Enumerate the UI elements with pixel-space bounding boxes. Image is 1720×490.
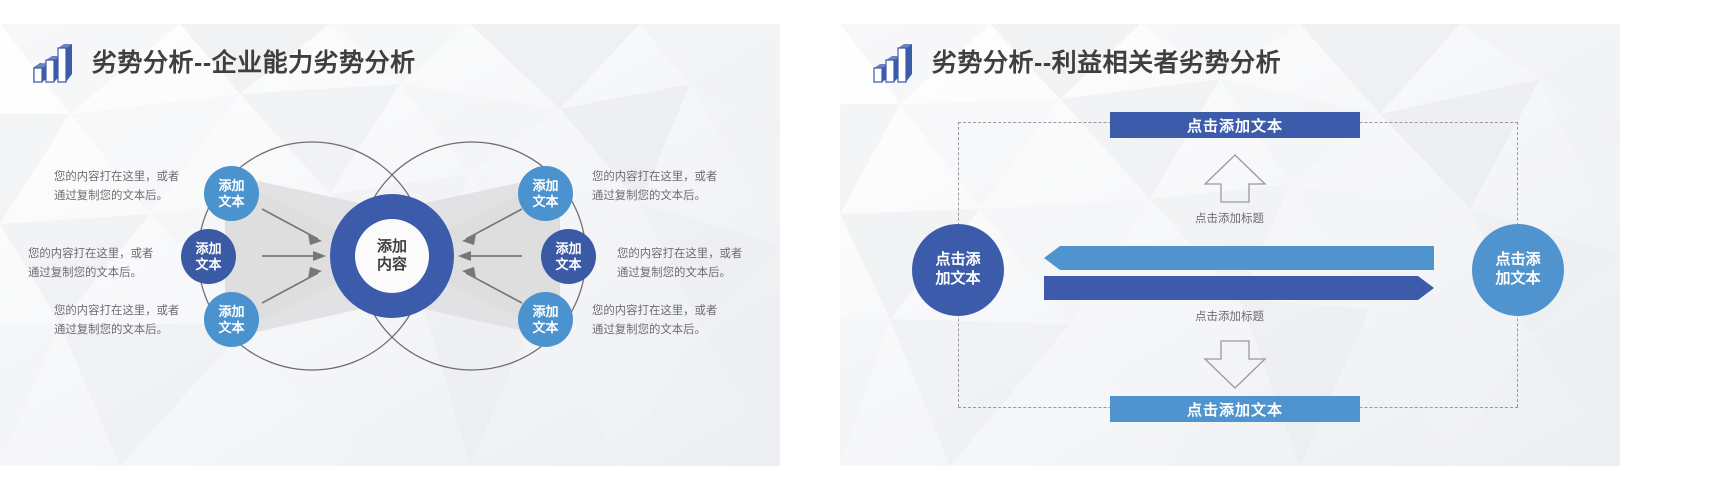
left-chip-3-line1: 添加 xyxy=(218,304,244,320)
left-note-3-line2: 通过复制您的文本后。 xyxy=(54,321,179,340)
down-arrow-outline-icon xyxy=(1203,339,1267,391)
left-chip-3-line2: 文本 xyxy=(218,320,244,336)
top-banner[interactable]: 点击添加文本 xyxy=(1110,112,1360,138)
left-chip-3[interactable]: 添加 文本 xyxy=(204,292,259,347)
left-note-2-line2: 通过复制您的文本后。 xyxy=(28,264,153,283)
top-banner-label: 点击添加文本 xyxy=(1187,115,1283,136)
left-note-3: 您的内容打在这里，或者 通过复制您的文本后。 xyxy=(54,302,179,340)
right-note-1-line1: 您的内容打在这里，或者 xyxy=(592,168,717,187)
right-note-2-line1: 您的内容打在这里，或者 xyxy=(617,245,742,264)
left-chip-1[interactable]: 添加 文本 xyxy=(204,166,259,221)
bar-chart-3d-icon xyxy=(868,38,914,84)
left-chip-1-line2: 文本 xyxy=(218,194,244,210)
left-note-2-line1: 您的内容打在这里，或者 xyxy=(28,245,153,264)
slide-deck: 劣势分析--企业能力劣势分析 xyxy=(0,0,1720,490)
up-arrow-outline-icon xyxy=(1203,152,1267,204)
upper-caption: 点击添加标题 xyxy=(1195,210,1264,226)
right-circle[interactable]: 点击添 加文本 xyxy=(1472,224,1564,316)
right-chip-1-line2: 文本 xyxy=(532,194,558,210)
center-node-line2: 内容 xyxy=(377,256,407,274)
bottom-banner[interactable]: 点击添加文本 xyxy=(1110,396,1360,422)
bottom-banner-label: 点击添加文本 xyxy=(1187,399,1283,420)
left-circle-line1: 点击添 xyxy=(935,251,980,270)
left-note-1-line2: 通过复制您的文本后。 xyxy=(54,187,179,206)
center-node-inner: 添加 内容 xyxy=(355,219,429,293)
left-circle[interactable]: 点击添 加文本 xyxy=(912,224,1004,316)
left-note-2: 您的内容打在这里，或者 通过复制您的文本后。 xyxy=(28,245,153,283)
right-circle-line2: 加文本 xyxy=(1495,270,1540,289)
left-note-1-line1: 您的内容打在这里，或者 xyxy=(54,168,179,187)
arrow-band-dark[interactable] xyxy=(1044,276,1434,300)
right-chip-3-line1: 添加 xyxy=(532,304,558,320)
right-note-1-line2: 通过复制您的文本后。 xyxy=(592,187,717,206)
left-note-3-line1: 您的内容打在这里，或者 xyxy=(54,302,179,321)
right-note-2: 您的内容打在这里，或者 通过复制您的文本后。 xyxy=(617,245,742,283)
right-circle-line1: 点击添 xyxy=(1495,251,1540,270)
left-chip-1-line1: 添加 xyxy=(218,178,244,194)
right-note-2-line2: 通过复制您的文本后。 xyxy=(617,264,742,283)
left-chip-2[interactable]: 添加 文本 xyxy=(181,229,236,284)
right-chip-3-line2: 文本 xyxy=(532,320,558,336)
right-note-3: 您的内容打在这里，或者 通过复制您的文本后。 xyxy=(592,302,717,340)
right-chip-1[interactable]: 添加 文本 xyxy=(518,166,573,221)
arrow-band-light[interactable] xyxy=(1044,246,1434,270)
page-title-2: 劣势分析--利益相关者劣势分析 xyxy=(932,43,1281,79)
left-circle-line2: 加文本 xyxy=(935,270,980,289)
left-chip-2-line2: 文本 xyxy=(195,257,221,273)
right-chip-1-line1: 添加 xyxy=(532,178,558,194)
slide-enterprise-capability: 劣势分析--企业能力劣势分析 xyxy=(0,24,780,466)
right-note-3-line1: 您的内容打在这里，或者 xyxy=(592,302,717,321)
center-node-line1: 添加 xyxy=(377,238,407,256)
right-chip-2-line1: 添加 xyxy=(555,241,581,257)
right-chip-2[interactable]: 添加 文本 xyxy=(541,229,596,284)
lower-caption: 点击添加标题 xyxy=(1195,308,1264,324)
right-note-3-line2: 通过复制您的文本后。 xyxy=(592,321,717,340)
center-node[interactable]: 添加 内容 xyxy=(330,194,454,318)
right-note-1: 您的内容打在这里，或者 通过复制您的文本后。 xyxy=(592,168,717,206)
right-chip-2-line2: 文本 xyxy=(555,257,581,273)
slide-stakeholder: 劣势分析--利益相关者劣势分析 点击添加文本 点击添加标题 点 xyxy=(840,24,1620,466)
left-chip-2-line1: 添加 xyxy=(195,241,221,257)
right-chip-3[interactable]: 添加 文本 xyxy=(518,292,573,347)
left-note-1: 您的内容打在这里，或者 通过复制您的文本后。 xyxy=(54,168,179,206)
slide-header-2: 劣势分析--利益相关者劣势分析 xyxy=(868,38,1281,84)
